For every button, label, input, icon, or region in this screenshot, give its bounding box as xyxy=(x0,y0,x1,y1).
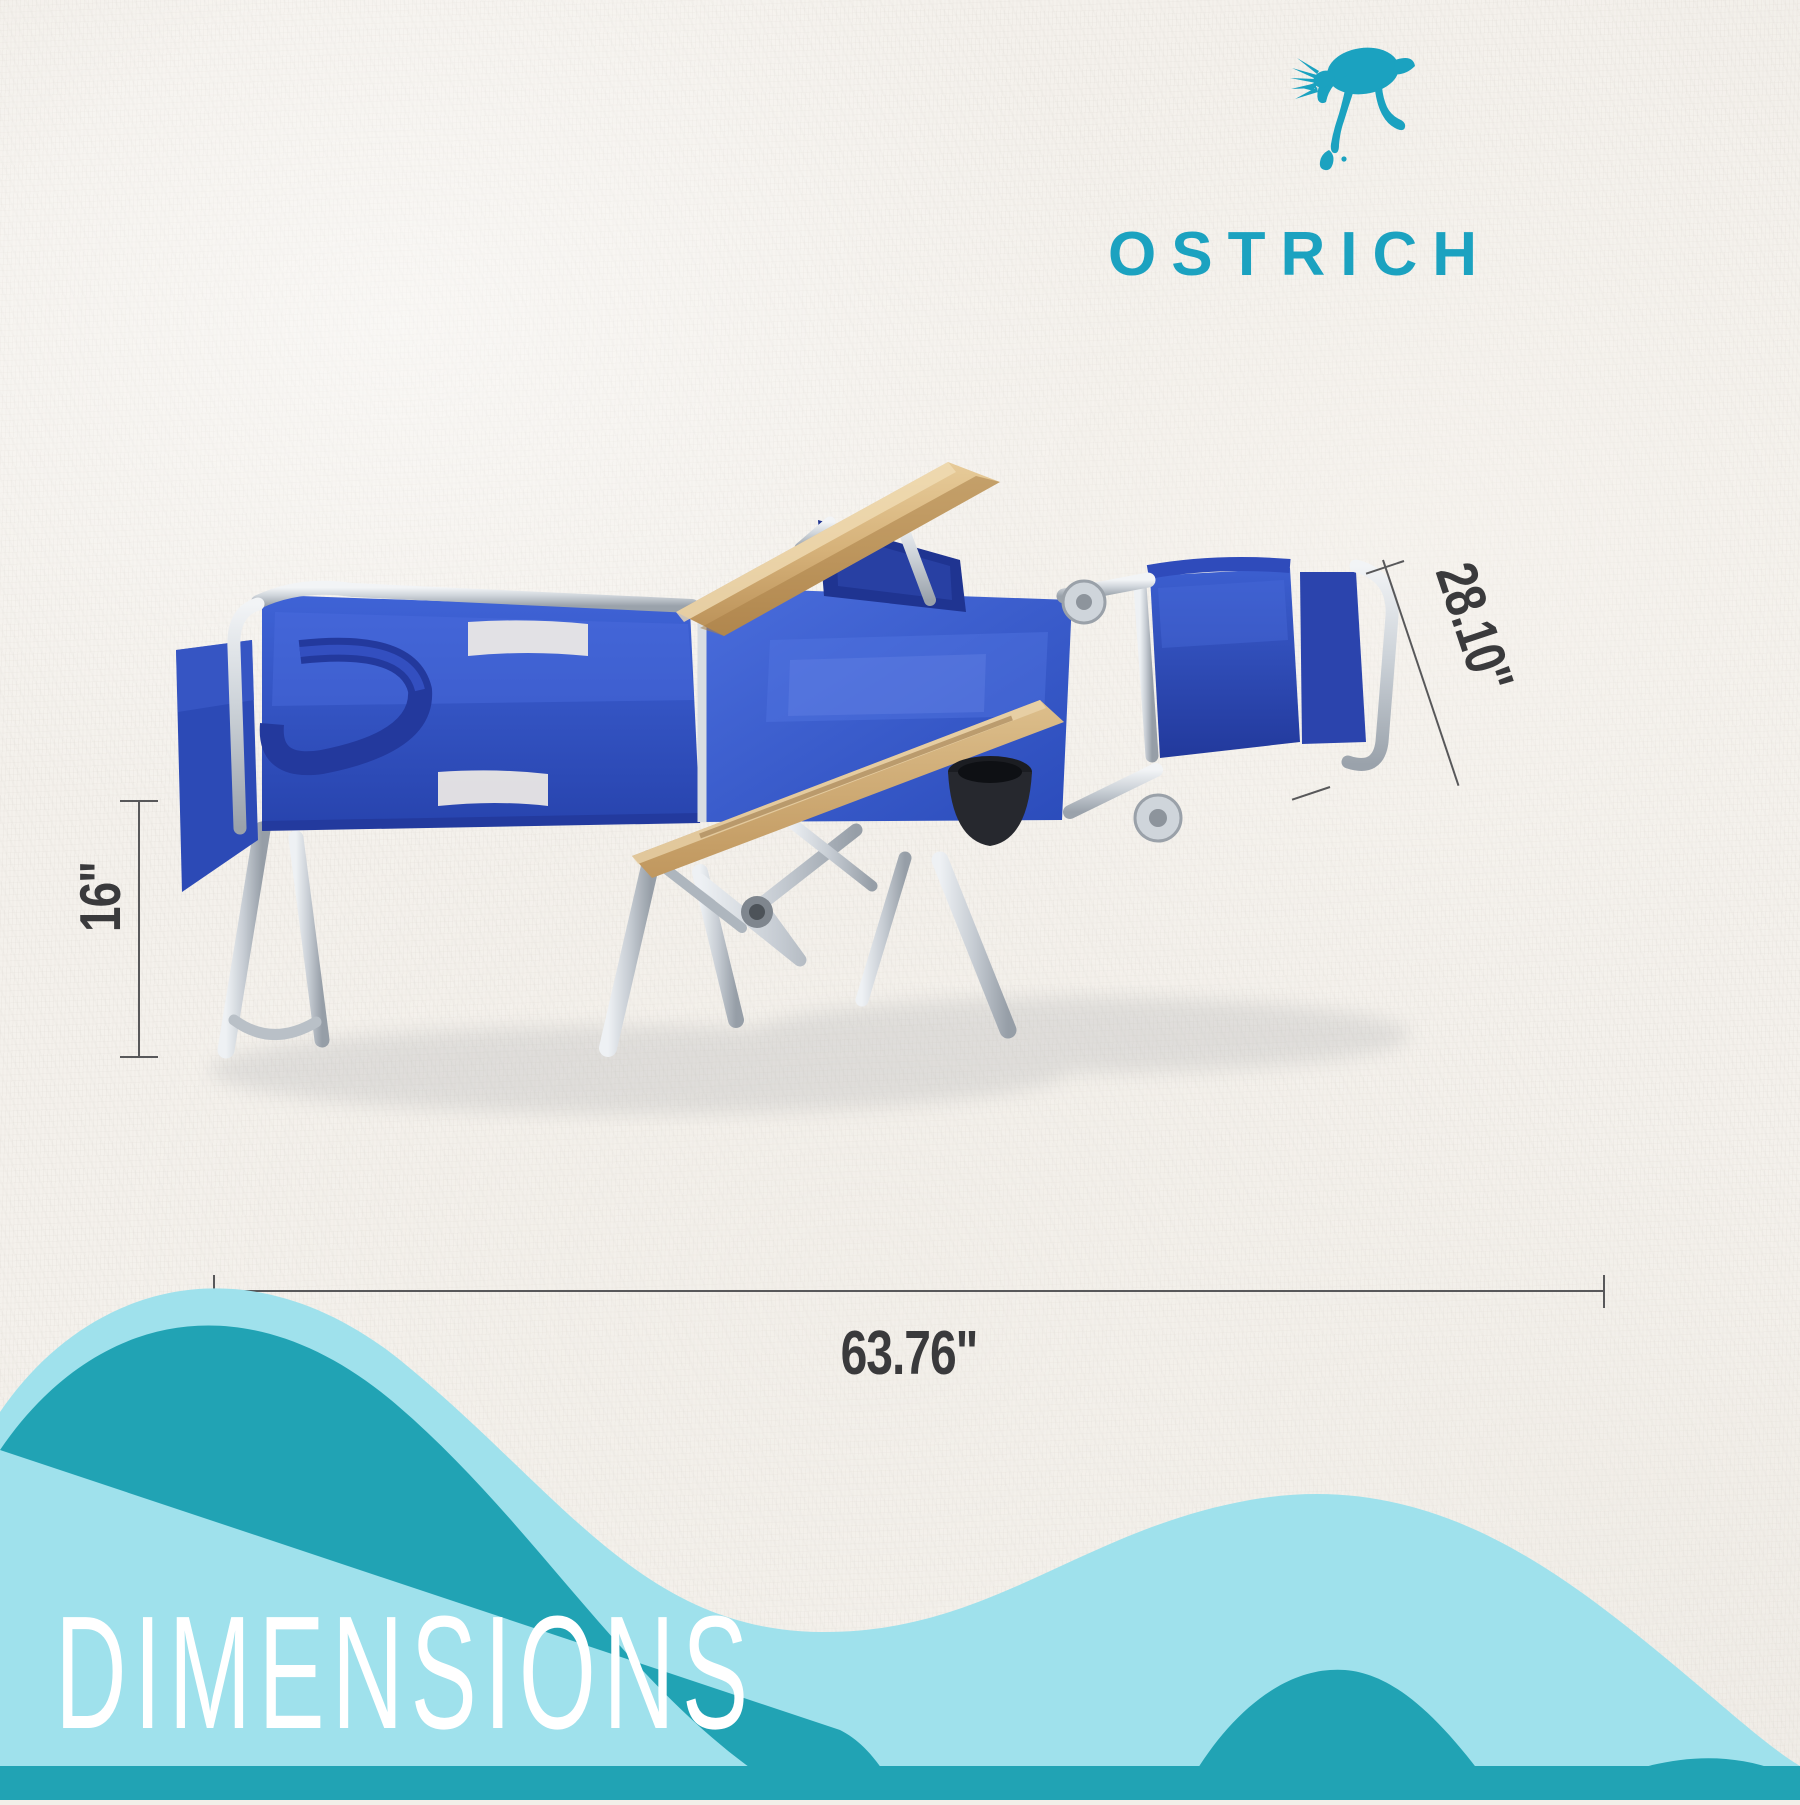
headrest-pillow xyxy=(176,640,258,892)
brand-wordmark: OSTRICH xyxy=(1090,224,1510,286)
brand-logo: OSTRICH xyxy=(1090,38,1510,288)
height-dimension-line xyxy=(138,800,140,1058)
height-dimension-cap-top xyxy=(120,800,158,802)
footrest-mesh xyxy=(1148,564,1366,758)
banner-title: DIMENSIONS xyxy=(55,1593,755,1754)
ostrich-bird-icon xyxy=(1275,38,1415,198)
height-dimension-label: 16" xyxy=(66,837,134,957)
seat-mesh-main xyxy=(262,596,700,830)
cup-holder xyxy=(948,756,1032,846)
product-shadow xyxy=(210,997,1410,1114)
height-dimension-cap-bottom xyxy=(120,1056,158,1058)
dimensions-banner: DIMENSIONS xyxy=(0,1200,1800,1800)
